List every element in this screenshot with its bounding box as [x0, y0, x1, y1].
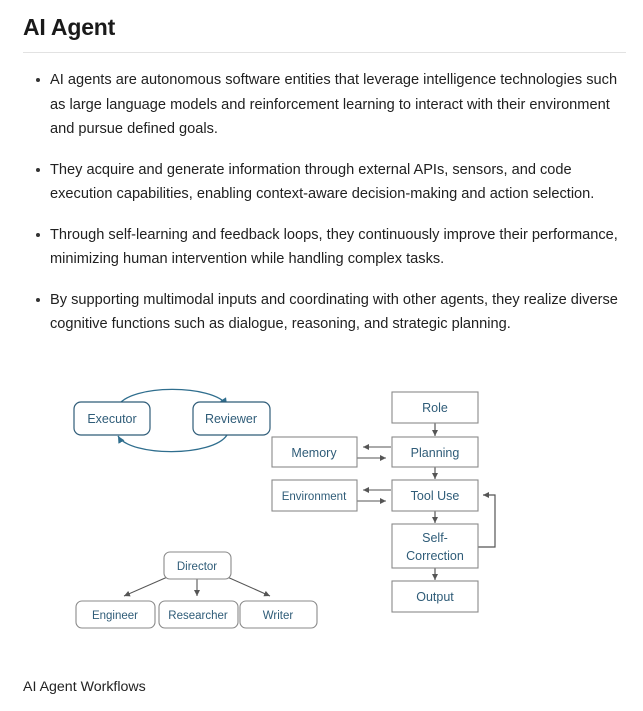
node-planning[interactable]: Planning	[392, 437, 478, 467]
edge-self-correction-feedback-to-tool-use	[478, 495, 495, 547]
node-output[interactable]: Output	[392, 581, 478, 612]
node-role[interactable]: Role	[392, 392, 478, 423]
node-engineer[interactable]: Engineer	[76, 601, 155, 628]
node-planning-label: Planning	[411, 446, 460, 460]
diagram-canvas: Executor Reviewer Role	[0, 375, 643, 645]
node-executor[interactable]: Executor	[74, 402, 150, 435]
edge-reviewer-to-executor	[118, 435, 227, 452]
node-director[interactable]: Director	[164, 552, 231, 579]
pipeline-group: Role Planning Tool Use Self- Correction	[392, 392, 495, 612]
list-item: Through self-learning and feedback loops…	[16, 223, 627, 272]
node-tool-use[interactable]: Tool Use	[392, 480, 478, 511]
node-reviewer[interactable]: Reviewer	[193, 402, 270, 435]
node-self-correction[interactable]: Self- Correction	[392, 524, 478, 568]
bullet-list: AI agents are autonomous software entiti…	[16, 53, 627, 337]
node-environment-label: Environment	[282, 491, 347, 503]
node-executor-label: Executor	[87, 412, 136, 426]
node-researcher[interactable]: Researcher	[159, 601, 238, 628]
title-block: AI Agent	[16, 0, 627, 53]
ai-agent-workflow-diagram: Executor Reviewer Role	[0, 375, 643, 645]
node-memory-label: Memory	[291, 446, 337, 460]
list-item: AI agents are autonomous software entiti…	[16, 68, 627, 142]
node-output-label: Output	[416, 590, 454, 604]
node-self-correction-label-line1: Self-	[422, 531, 448, 545]
node-tool-use-label: Tool Use	[411, 489, 460, 503]
node-reviewer-label: Reviewer	[205, 412, 257, 426]
node-engineer-label: Engineer	[92, 610, 138, 622]
node-self-correction-label-line2: Correction	[406, 549, 464, 563]
node-environment[interactable]: Environment	[272, 480, 357, 511]
list-item: They acquire and generate information th…	[16, 158, 627, 207]
list-item: By supporting multimodal inputs and coor…	[16, 288, 627, 337]
node-researcher-label: Researcher	[168, 610, 228, 622]
diagram-caption: AI Agent Workflows	[23, 679, 146, 695]
node-writer[interactable]: Writer	[240, 601, 317, 628]
node-writer-label: Writer	[263, 610, 294, 622]
peer-loop-group: Executor Reviewer	[74, 389, 270, 451]
context-group: Memory Environment	[272, 437, 391, 511]
document-page: AI Agent AI agents are autonomous softwa…	[0, 0, 643, 711]
node-director-label: Director	[177, 561, 217, 573]
node-role-label: Role	[422, 401, 448, 415]
page-title: AI Agent	[16, 14, 627, 52]
hierarchy-group: Director Engineer Researcher Writer	[76, 552, 317, 628]
node-memory[interactable]: Memory	[272, 437, 357, 467]
